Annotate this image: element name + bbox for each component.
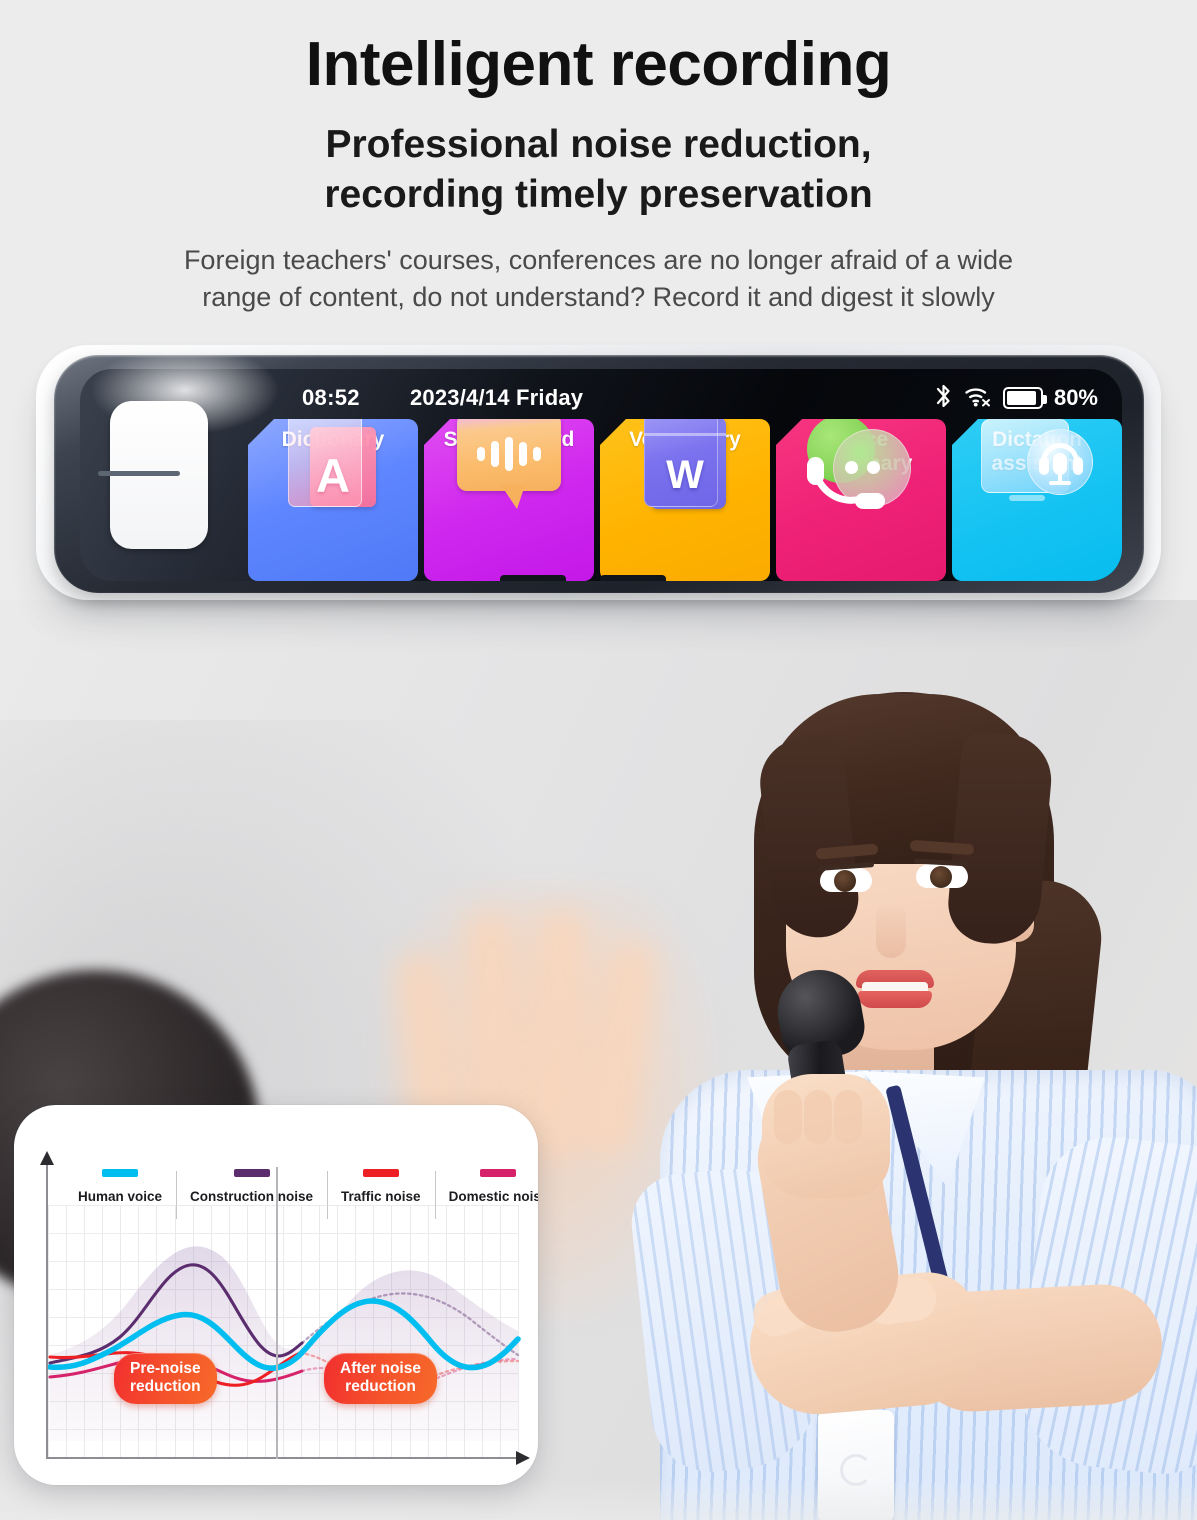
chart-y-axis <box>46 1163 48 1459</box>
subtitle-line-2: recording timely preservation <box>0 170 1197 220</box>
hand-gripping-microphone <box>762 1074 890 1198</box>
status-bar: 08:52 2023/4/14 Friday <box>80 381 1122 415</box>
app-tile-voice-dictionary[interactable]: Voice Dictionary <box>776 419 946 581</box>
scanner-pen-device: 08:52 2023/4/14 Friday <box>36 345 1161 600</box>
book-a-icon: A <box>288 419 378 509</box>
monitor-headset-icon <box>981 419 1093 511</box>
app-tile-vocabulary[interactable]: Vocabulary W <box>600 419 770 581</box>
app-tile-row: Dictionary A Smart record <box>248 419 1122 581</box>
page-title: Intelligent recording <box>0 33 1197 96</box>
page-description: Foreign teachers' courses, conferences a… <box>0 242 1197 316</box>
description-line-1: Foreign teachers' courses, conferences a… <box>184 245 1013 275</box>
description-line-2: range of content, do not understand? Rec… <box>0 279 1197 316</box>
noise-reduction-chart-card: Human voice Construction noise Traffic n… <box>14 1105 538 1485</box>
page-subtitle: Professional noise reduction, recording … <box>0 120 1197 220</box>
status-time: 08:52 <box>302 385 360 411</box>
battery-fill <box>1007 391 1036 405</box>
badge-line-2: After noisereduction <box>340 1360 421 1395</box>
app-tile-dictionary[interactable]: Dictionary A <box>248 419 418 581</box>
chart-divider <box>276 1167 278 1459</box>
status-date: 2023/4/14 Friday <box>410 385 583 411</box>
header: Intelligent recording Professional noise… <box>0 0 1197 316</box>
chat-headset-icon <box>805 419 917 513</box>
scan-head-line <box>98 471 180 476</box>
device-body: 08:52 2023/4/14 Friday <box>54 355 1144 593</box>
photo-bottom-fade <box>0 1480 1197 1520</box>
wifi-off-icon <box>964 384 992 413</box>
eye-left <box>820 868 872 892</box>
word-card-icon: W <box>644 419 726 511</box>
speech-waveform-icon <box>457 419 561 511</box>
scan-head-button[interactable] <box>110 401 208 549</box>
battery-percent: 80% <box>1054 385 1098 411</box>
bluetooth-icon <box>934 383 953 414</box>
eye-right <box>916 864 968 888</box>
app-tile-smart-record[interactable]: Smart record <box>424 419 594 581</box>
hair-front <box>760 694 1048 864</box>
app-tile-dictation-assistant[interactable]: Dictation assistant <box>952 419 1122 581</box>
presenter-figure <box>600 670 1197 1520</box>
pre-noise-reduction-badge: Pre-noisereduction <box>114 1353 217 1404</box>
chart-x-axis <box>46 1457 518 1459</box>
nose <box>876 902 906 958</box>
lower-lip <box>858 991 932 1008</box>
device-screen: 08:52 2023/4/14 Friday <box>80 369 1122 581</box>
after-noise-reduction-badge: After noisereduction <box>324 1353 437 1404</box>
badge-line-1: Pre-noisereduction <box>130 1360 201 1395</box>
status-icons: 80% <box>934 383 1098 414</box>
product-feature-page: Intelligent recording Professional noise… <box>0 0 1197 1520</box>
battery-icon <box>1003 387 1043 409</box>
subtitle-line-1: Professional noise reduction, <box>325 123 871 166</box>
